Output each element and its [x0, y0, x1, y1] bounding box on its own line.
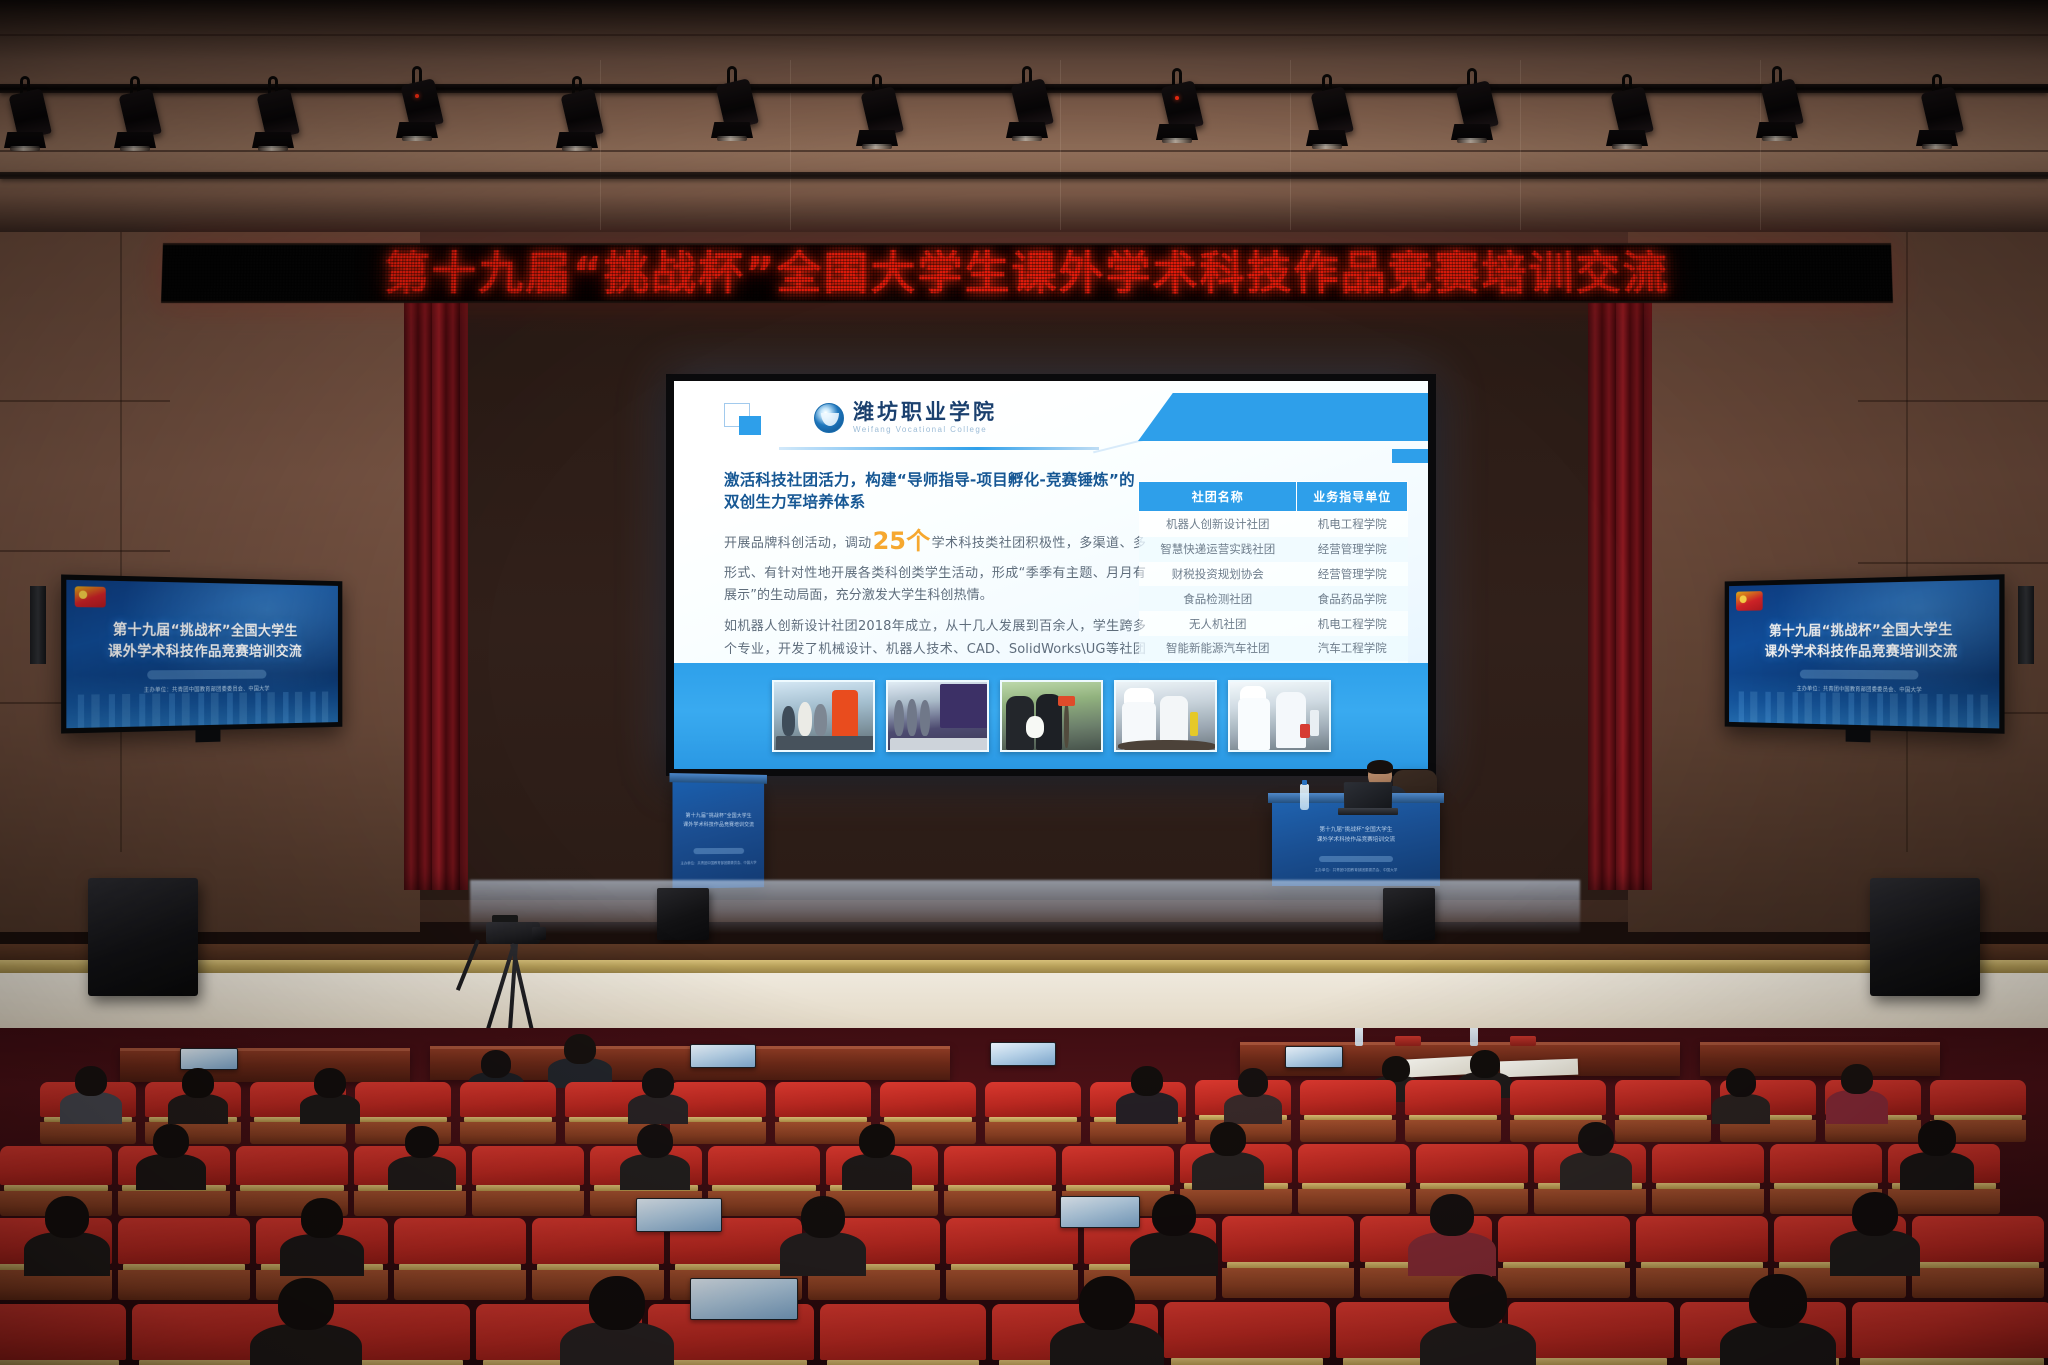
auditorium-scene: 第十九届“挑战杯”全国大学生课外学术科技作品竞赛培训交流 潍坊职业学院 Weif…: [0, 0, 2048, 1365]
audience-person: [388, 1126, 456, 1188]
audience-person: [560, 1276, 674, 1365]
slide-title: 激活科技社团活力，构建“导师指导-项目孵化-竞赛锤炼”的双创生力军培养体系: [724, 469, 1146, 513]
right-wall-monitor: 第十九届“挑战杯”全国大学生 课外学术科技作品竞赛培训交流 主办单位：共青团中国…: [1725, 574, 2005, 734]
audience-person: [168, 1068, 228, 1122]
audience-person: [1192, 1122, 1264, 1188]
institution-logo: 潍坊职业学院 Weifang Vocational College: [814, 401, 997, 434]
cell-club-name: 财税投资规划协会: [1139, 562, 1297, 587]
cell-department: 机电工程学院: [1297, 611, 1408, 636]
standing-lectern: 第十九届“挑战杯”全国大学生 课外学术科技作品竞赛培训交流 主办单位：共青团中国…: [673, 779, 765, 889]
left-monitor-screen: 第十九届“挑战杯”全国大学生 课外学术科技作品竞赛培训交流 主办单位：共青团中国…: [66, 580, 338, 728]
lectern-date-pill: [693, 848, 744, 854]
lighting-truss-rear: [0, 172, 2048, 179]
table-row: 智慧快递运营实践社团经营管理学院: [1139, 537, 1408, 562]
seat: [1164, 1302, 1330, 1365]
seat: [1300, 1080, 1396, 1142]
audience-laptop: [636, 1198, 722, 1232]
cell-department: 机电工程学院: [1297, 512, 1408, 537]
cell-department: 经营管理学院: [1297, 537, 1408, 562]
audience-microphone-unit: [1510, 1036, 1536, 1046]
header-parallelogram: [1138, 393, 1428, 441]
photo-surveying-outdoor: [1000, 680, 1103, 752]
seat: [820, 1304, 986, 1365]
presenter-laptop: [1338, 782, 1398, 812]
pa-speaker-left: [88, 878, 198, 996]
seat: [1912, 1216, 2044, 1298]
audience-person: [1720, 1274, 1836, 1365]
left-wall-monitor: 第十九届“挑战杯”全国大学生 课外学术科技作品竞赛培训交流 主办单位：共青团中国…: [61, 574, 342, 733]
left-tv-mount-arm: [30, 586, 46, 664]
audience-microphone-unit: [1395, 1036, 1421, 1046]
audience-person: [300, 1068, 360, 1122]
presenter-hair: [1367, 760, 1393, 774]
audience-person: [250, 1278, 362, 1365]
seat: [0, 1304, 126, 1365]
title-line-2: 课外学术科技作品竞赛培训交流: [1288, 836, 1424, 846]
institution-name-cn: 潍坊职业学院: [853, 401, 997, 422]
audience-person: [1224, 1068, 1282, 1122]
stage-edge-trim: [0, 944, 2048, 960]
desk-title: 第十九届“挑战杯”全国大学生 课外学术科技作品竞赛培训交流: [1288, 826, 1424, 846]
table-row: 无人机社团机电工程学院: [1139, 611, 1408, 636]
seat: [394, 1218, 526, 1300]
right-monitor-title: 第十九届“挑战杯”全国大学生 课外学术科技作品竞赛培训交流: [1744, 620, 1982, 663]
audience-person: [1420, 1274, 1536, 1365]
audience-water-bottle: [1355, 1028, 1363, 1046]
seat: [944, 1146, 1056, 1216]
cell-club-name: 无人机社团: [1139, 611, 1297, 636]
seat: [1298, 1144, 1410, 1214]
audience-person: [842, 1124, 912, 1188]
red-stage-curtain-right: [1588, 250, 1652, 890]
table-row: 机器人创新设计社团机电工程学院: [1139, 512, 1408, 537]
city-skyline-graphic: [1729, 673, 1999, 728]
cell-club-name: 智慧快递运营实践社团: [1139, 537, 1297, 562]
seat: [1222, 1216, 1354, 1298]
audience-person: [1050, 1276, 1164, 1365]
audience-water-bottle: [1470, 1028, 1478, 1046]
audience-person: [620, 1124, 690, 1188]
lectern-title: 第十九届“挑战杯”全国大学生 课外学术科技作品竞赛培训交流: [681, 812, 757, 829]
cell-club-name: 食品检测社团: [1139, 586, 1297, 611]
led-banner: 第十九届“挑战杯”全国大学生课外学术科技作品竞赛培训交流: [161, 243, 1893, 303]
left-monitor-title: 第十九届“挑战杯”全国大学生 课外学术科技作品竞赛培训交流: [84, 620, 323, 663]
audience-laptop: [1060, 1196, 1140, 1228]
audience-person: [60, 1066, 122, 1122]
college-seal-icon: [814, 403, 844, 433]
national-emblem-icon: [1736, 591, 1763, 611]
title-line-1: 第十九届“挑战杯”全国大学生: [84, 620, 323, 642]
audience-laptop: [1285, 1046, 1343, 1068]
audience-person: [780, 1196, 866, 1274]
left-monitor-stand: [195, 730, 220, 743]
cell-department: 食品药品学院: [1297, 586, 1408, 611]
led-banner-text: 第十九届“挑战杯”全国大学生课外学术科技作品竞赛培训交流: [384, 251, 1670, 296]
title-line-1: 第十九届“挑战杯”全国大学生: [1744, 620, 1982, 643]
title-line-2: 课外学术科技作品竞赛培训交流: [681, 820, 757, 829]
table-header-club-name: 社团名称: [1139, 482, 1297, 512]
slide-photo-strip: [674, 663, 1428, 769]
laptop-base: [1338, 808, 1398, 815]
seat: [1852, 1302, 2048, 1365]
audience-person: [1116, 1066, 1178, 1122]
floor-monitor-speaker-left: [657, 888, 709, 940]
audience-laptop: [990, 1042, 1056, 1066]
water-bottle: [1300, 784, 1309, 810]
audience-desk-row: [120, 1048, 410, 1082]
title-line-1: 第十九届“挑战杯”全国大学生: [681, 812, 757, 821]
institution-name-en: Weifang Vocational College: [853, 425, 997, 434]
header-tab-accent: [1392, 449, 1428, 463]
title-line-2: 课外学术科技作品竞赛培训交流: [84, 642, 323, 664]
cell-department: 经营管理学院: [1297, 562, 1408, 587]
camera-lens-icon: [532, 927, 546, 940]
stage-gold-trim: [0, 960, 2048, 973]
audience-person: [280, 1198, 364, 1274]
right-monitor-screen: 第十九届“挑战杯”全国大学生 课外学术科技作品竞赛培训交流 主办单位：共青团中国…: [1729, 580, 1999, 729]
photo-chemistry-lab: [1228, 680, 1331, 752]
pa-speaker-right: [1870, 878, 1980, 996]
date-pill: [147, 669, 266, 679]
audience-person: [1900, 1120, 1974, 1188]
seat: [460, 1082, 556, 1144]
para1-before: 开展品牌科创活动，调动: [724, 536, 872, 551]
cell-department: 汽车工程学院: [1297, 636, 1408, 661]
audience-person: [1408, 1194, 1496, 1274]
desk-subtitle: 主办单位：共青团中国教育部团委委员会、中国大学: [1286, 868, 1426, 873]
decor-square-fill-icon: [739, 416, 761, 435]
right-monitor-stand: [1846, 730, 1871, 743]
table-row: 食品检测社团食品药品学院: [1139, 586, 1408, 611]
slide-paragraph-1: 开展品牌科创活动，调动25个学术科技类社团积极性，多渠道、多形式、有针对性地开展…: [724, 521, 1146, 608]
audience-laptop: [180, 1048, 238, 1070]
table-row: 财税投资规划协会经营管理学院: [1139, 562, 1408, 587]
photo-food-testing-lab: [1114, 680, 1217, 752]
desk-date-pill: [1319, 856, 1393, 862]
seat: [985, 1082, 1081, 1144]
right-tv-mount-arm: [2018, 586, 2034, 664]
red-stage-curtain-left: [404, 250, 468, 890]
lectern-top: [669, 773, 766, 784]
city-skyline-graphic: [66, 673, 338, 728]
header-rule: [779, 447, 1099, 450]
photo-robot-arm-lab: [772, 680, 875, 752]
slide-header: 潍坊职业学院 Weifang Vocational College: [674, 381, 1428, 455]
title-line-1: 第十九届“挑战杯”全国大学生: [1288, 826, 1424, 836]
audience-seating: [0, 1028, 2048, 1365]
audience-laptop: [690, 1278, 798, 1320]
audience-laptop: [690, 1044, 756, 1068]
seat: [1652, 1144, 1764, 1214]
audience-person: [1712, 1068, 1770, 1122]
seat: [1405, 1080, 1501, 1142]
audience-person: [24, 1196, 110, 1274]
floor-monitor-speaker-right: [1383, 888, 1435, 940]
audience-person: [136, 1124, 206, 1188]
cell-club-name: 机器人创新设计社团: [1139, 512, 1297, 537]
lectern-subtitle: 主办单位：共青团中国教育部团委委员会、中国大学: [681, 860, 757, 866]
table-row: 智能新能源汽车社团汽车工程学院: [1139, 636, 1408, 661]
seat: [472, 1146, 584, 1216]
audience-person: [548, 1034, 612, 1086]
date-pill: [1800, 669, 1919, 679]
audience-person: [1830, 1192, 1920, 1274]
table-header-department: 业务指导单位: [1297, 482, 1408, 512]
national-emblem-icon: [75, 586, 106, 607]
seat: [118, 1218, 250, 1300]
audience-person: [1826, 1064, 1888, 1122]
highlight-number: 25个: [873, 527, 931, 555]
audience-person: [1560, 1122, 1632, 1188]
cell-club-name: 智能新能源汽车社团: [1139, 636, 1297, 661]
main-projection-screen: 潍坊职业学院 Weifang Vocational College 激活科技社团…: [666, 374, 1436, 776]
photo-drone-team-lineup: [886, 680, 989, 752]
audience-person: [1130, 1194, 1218, 1274]
title-line-2: 课外学术科技作品竞赛培训交流: [1744, 642, 1982, 664]
table-header-row: 社团名称 业务指导单位: [1139, 482, 1408, 512]
presentation-slide: 潍坊职业学院 Weifang Vocational College 激活科技社团…: [674, 381, 1428, 769]
laptop-lid: [1344, 782, 1392, 809]
audience-person: [628, 1068, 688, 1122]
